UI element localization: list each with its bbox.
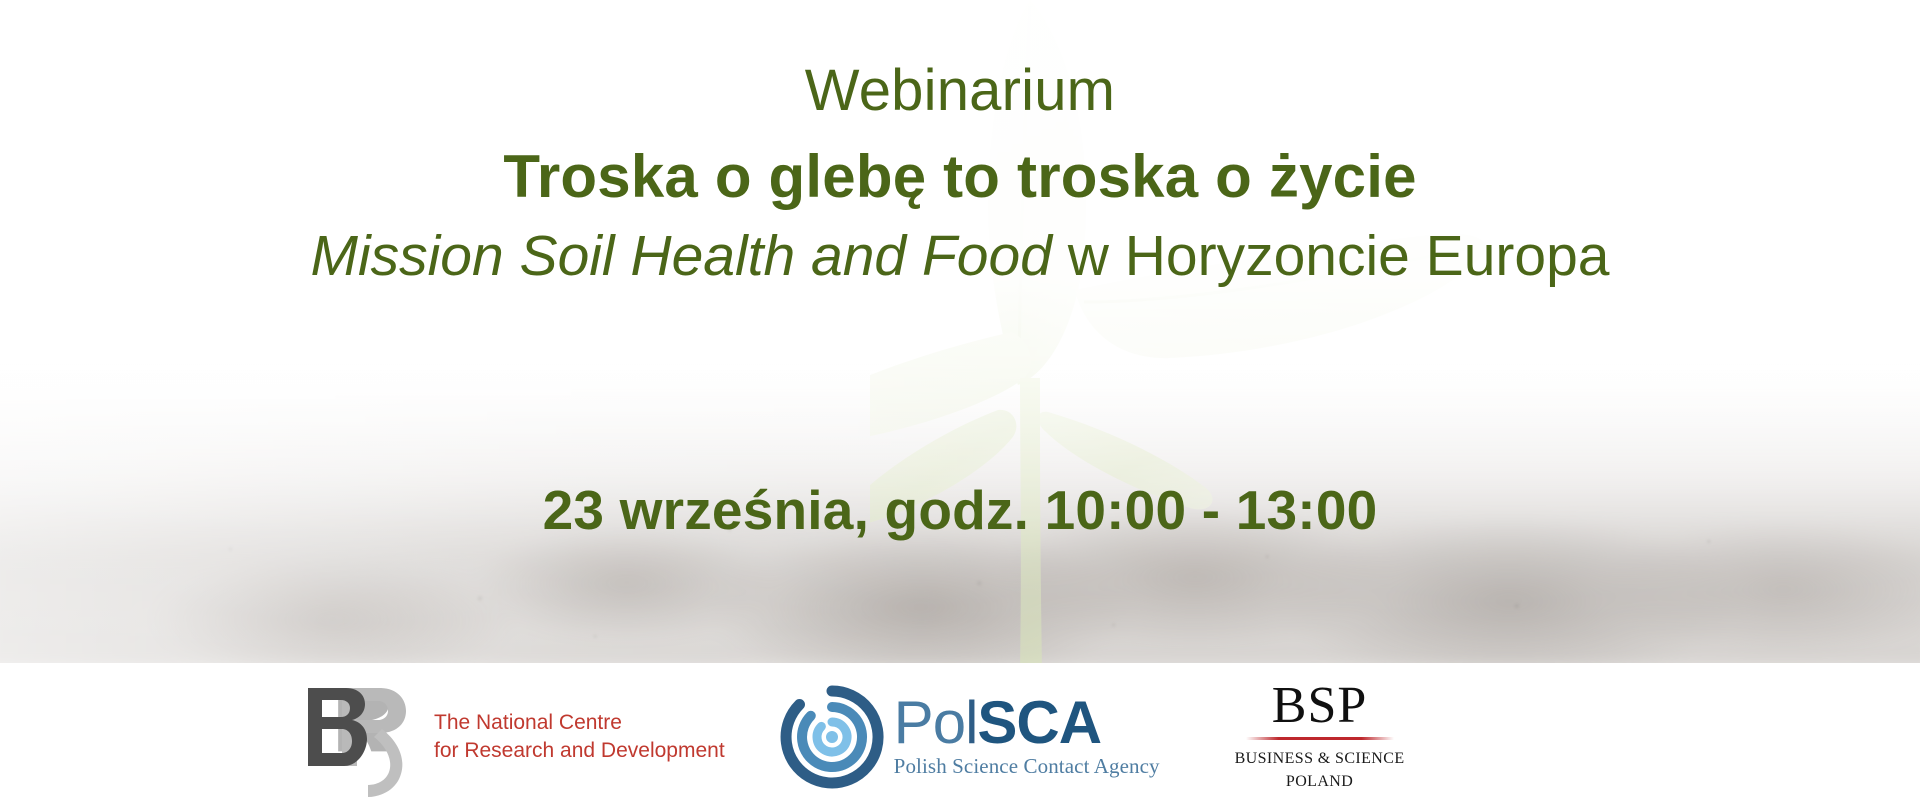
webinar-banner: Webinarium Troska o glebę to troska o ży… <box>0 0 1920 810</box>
polsca-word-bar: l <box>965 689 977 756</box>
bsp-initials: BSP <box>1272 680 1368 732</box>
bsp-subtitle-line-1: BUSINESS & SCIENCE <box>1235 747 1405 770</box>
polsca-word-po: Po <box>894 689 965 756</box>
webinar-datetime: 23 września, godz. 10:00 - 13:00 <box>0 478 1920 542</box>
logo-polsca[interactable]: PolSCA Polish Science Contact Agency <box>780 685 1160 789</box>
polsca-spiral-icon <box>780 685 884 789</box>
bsp-divider <box>1246 737 1394 740</box>
ncbr-line-1: The National Centre <box>434 709 725 737</box>
polsca-tagline: Polish Science Contact Agency <box>894 754 1160 779</box>
partner-logo-bar: The National Centre for Research and Dev… <box>0 663 1920 810</box>
polsca-wordmark: PolSCA <box>894 694 1160 752</box>
ncbr-wordmark: The National Centre for Research and Dev… <box>434 709 725 764</box>
logo-bsp[interactable]: BSP BUSINESS & SCIENCE POLAND <box>1235 680 1405 793</box>
bsp-subtitle-line-2: POLAND <box>1286 770 1353 793</box>
webinar-title: Troska o glebę to troska o życie <box>0 145 1920 210</box>
polsca-word-sca: SCA <box>977 689 1101 756</box>
webinar-eyebrow: Webinarium <box>0 60 1920 123</box>
ncbr-monogram-icon <box>300 677 418 797</box>
webinar-subtitle-rest: w Horyzoncie Europa <box>1052 224 1610 288</box>
logo-ncbr[interactable]: The National Centre for Research and Dev… <box>300 677 725 797</box>
webinar-subtitle: Mission Soil Health and Food w Horyzonci… <box>0 225 1920 289</box>
polsca-wordmark-group: PolSCA Polish Science Contact Agency <box>894 694 1160 779</box>
webinar-subtitle-mission: Mission Soil Health and Food <box>311 224 1052 288</box>
ncbr-line-2: for Research and Development <box>434 737 725 765</box>
